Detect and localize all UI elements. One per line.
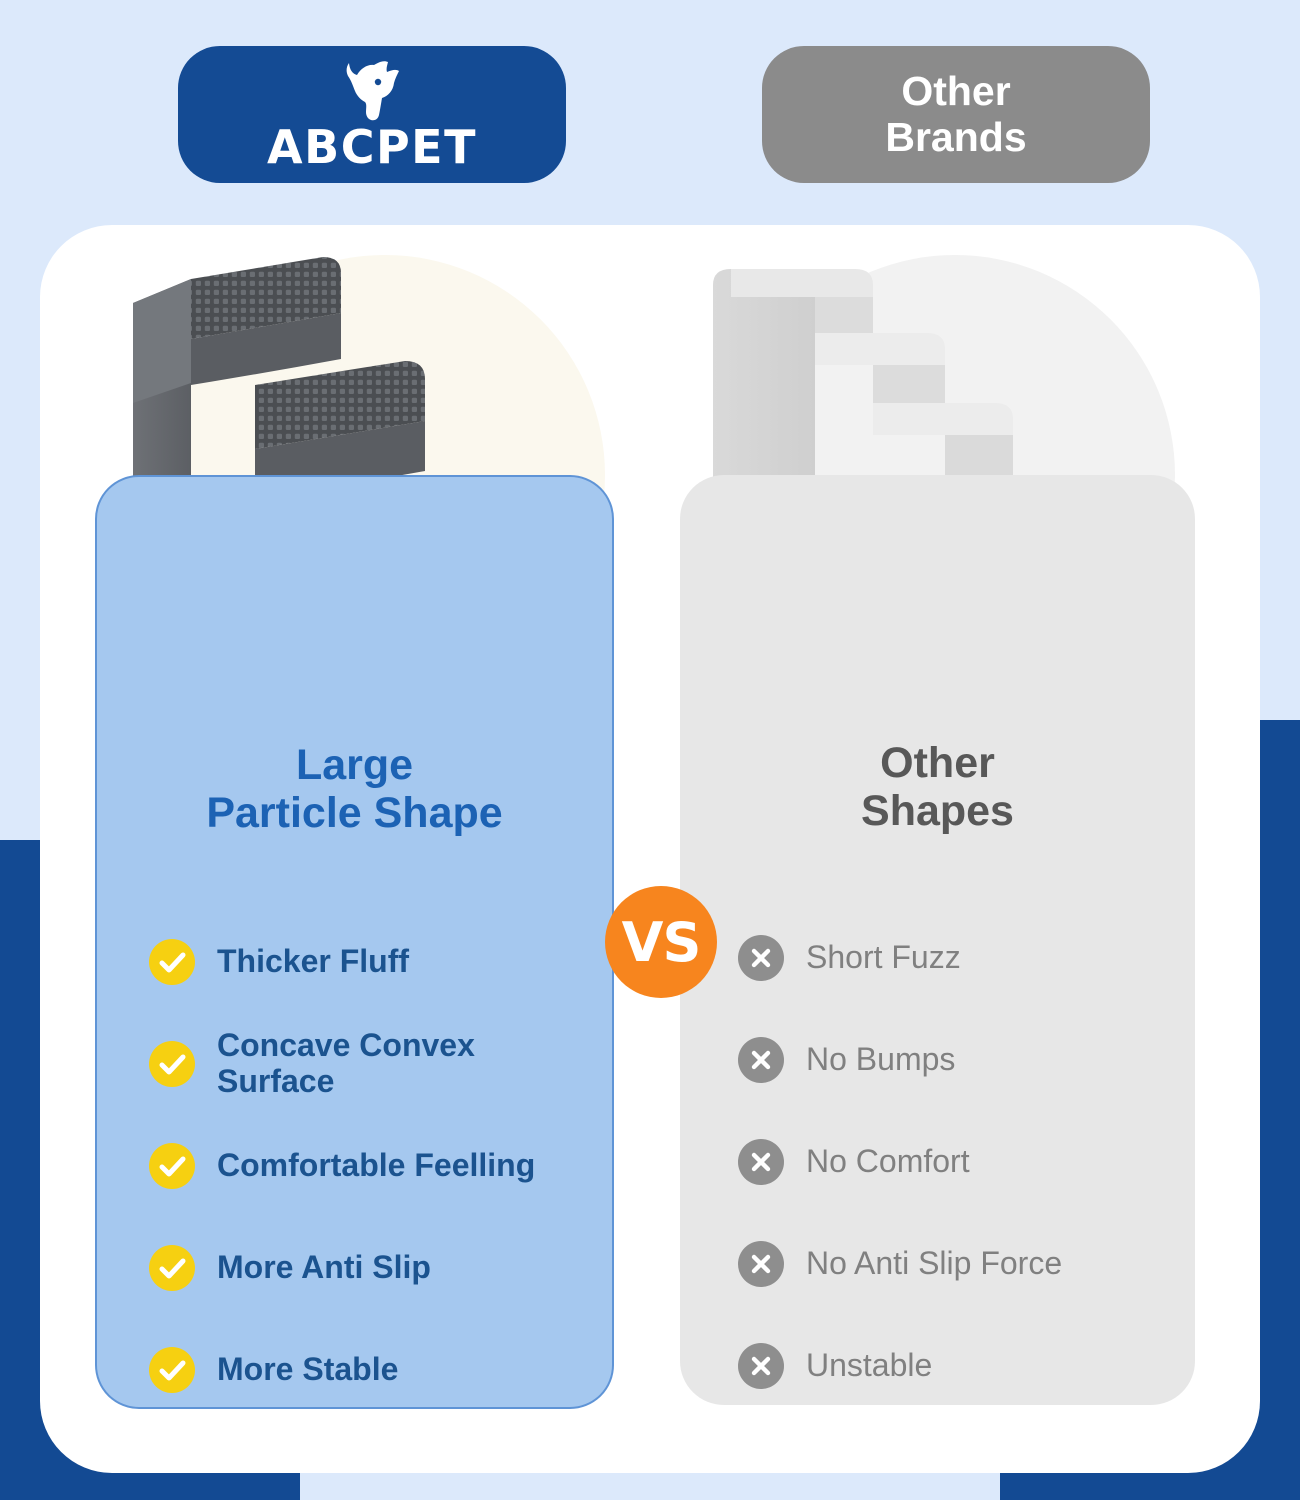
feature-label-line1: Unstable <box>806 1347 932 1383</box>
brand-badge: ABCPET <box>178 46 566 183</box>
feature-label: No Bumps <box>806 1042 955 1078</box>
panel-other-brands: Other Shapes Short Fuzz <box>680 475 1195 1405</box>
feature-label-line2: Surface <box>217 1064 475 1100</box>
panel-other-title: Other Shapes <box>680 475 1195 835</box>
feature-label-line1: More Stable <box>217 1351 398 1387</box>
feature-label: Thicker Fluff <box>217 944 409 980</box>
panel-abcpet: Large Particle Shape Thicker Fluff <box>95 475 614 1409</box>
feature-item: Concave Convex Surface <box>149 1013 612 1115</box>
feature-label-line1: More Anti Slip <box>217 1249 431 1285</box>
feature-item: Short Fuzz <box>738 907 1195 1009</box>
feature-label: More Stable <box>217 1352 398 1388</box>
panel-abcpet-title-line2: Particle Shape <box>97 789 612 837</box>
feature-item: Thicker Fluff <box>149 911 612 1013</box>
feature-item: More Anti Slip <box>149 1217 612 1319</box>
feature-label: No Comfort <box>806 1144 970 1180</box>
feature-label-line1: Concave Convex <box>217 1027 475 1063</box>
content-card: Large Particle Shape Thicker Fluff <box>40 225 1260 1473</box>
feature-label: Unstable <box>806 1348 932 1384</box>
panel-abcpet-title-line1: Large <box>296 741 413 789</box>
feature-item: No Comfort <box>738 1111 1195 1213</box>
check-icon <box>149 1041 195 1087</box>
cross-icon <box>738 1139 784 1185</box>
feature-label: Short Fuzz <box>806 940 961 976</box>
feature-label-line1: Short Fuzz <box>806 939 961 975</box>
feature-label-line1: No Bumps <box>806 1041 955 1077</box>
cross-icon <box>738 1037 784 1083</box>
panel-other-title-line2: Shapes <box>680 787 1195 835</box>
feature-label-line1: No Comfort <box>806 1143 970 1179</box>
check-icon <box>149 1143 195 1189</box>
cross-icon <box>738 1343 784 1389</box>
panel-abcpet-title: Large Particle Shape <box>97 477 612 837</box>
check-icon <box>149 939 195 985</box>
feature-label: More Anti Slip <box>217 1250 431 1286</box>
cross-icon <box>738 935 784 981</box>
competitor-badge-line2: Brands <box>885 115 1026 161</box>
brand-name: ABCPET <box>267 124 477 170</box>
feature-list-other-brands: Short Fuzz No Bumps <box>680 907 1195 1417</box>
feature-label-line1: Thicker Fluff <box>217 943 409 979</box>
competitor-badge: Other Brands <box>762 46 1150 183</box>
feature-item: Comfortable Feelling <box>149 1115 612 1217</box>
feature-label-line1: No Anti Slip Force <box>806 1245 1062 1281</box>
feature-label-line1: Comfortable Feelling <box>217 1147 535 1183</box>
check-icon <box>149 1347 195 1393</box>
feature-item: More Stable <box>149 1319 612 1421</box>
feature-label: Concave Convex Surface <box>217 1028 475 1100</box>
competitor-badge-line1: Other <box>901 69 1010 115</box>
header: ABCPET Other Brands <box>0 0 1300 225</box>
panel-other-title-line1: Other <box>880 739 995 787</box>
feature-item: No Anti Slip Force <box>738 1213 1195 1315</box>
check-icon <box>149 1245 195 1291</box>
feature-list-abcpet: Thicker Fluff Concave Convex Surface <box>97 911 612 1421</box>
comparison-infographic: ABCPET Other Brands <box>0 0 1300 1500</box>
dog-head-icon <box>335 60 409 122</box>
feature-label: Comfortable Feelling <box>217 1148 535 1184</box>
feature-item: Unstable <box>738 1315 1195 1417</box>
feature-label: No Anti Slip Force <box>806 1246 1062 1282</box>
vs-badge: VS <box>605 886 717 998</box>
feature-item: No Bumps <box>738 1009 1195 1111</box>
cross-icon <box>738 1241 784 1287</box>
